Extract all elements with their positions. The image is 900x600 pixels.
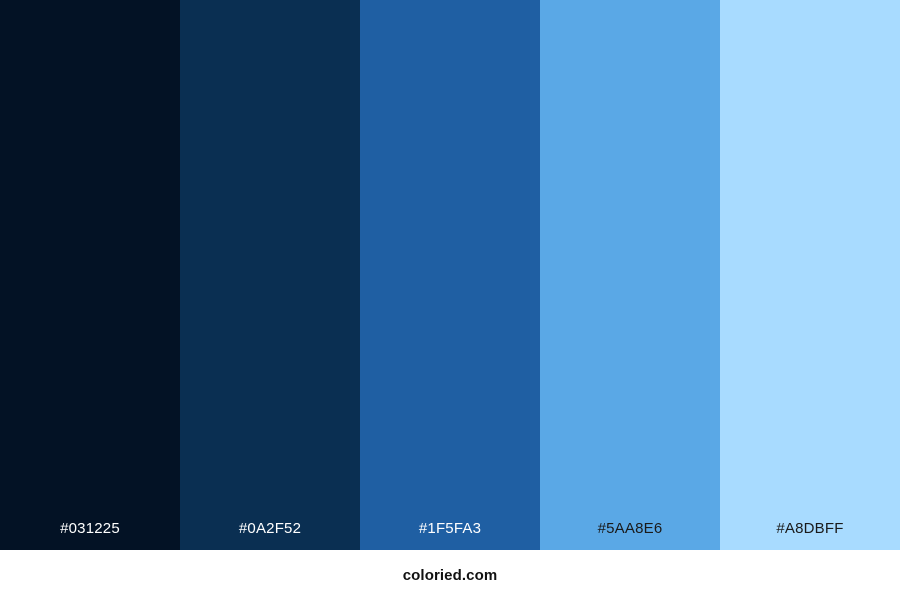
color-swatch-5[interactable]: #A8DBFF [720, 0, 900, 550]
color-swatch-5-hex-label: #A8DBFF [720, 521, 900, 550]
color-swatch-2[interactable]: #0A2F52 [180, 0, 360, 550]
color-swatch-4-hex-label: #5AA8E6 [540, 521, 720, 550]
swatch-strip: #031225 #0A2F52 #1F5FA3 #5AA8E6 #A8DBFF [0, 0, 900, 550]
color-swatch-1[interactable]: #031225 [0, 0, 180, 550]
color-swatch-1-hex-label: #031225 [0, 521, 180, 550]
color-swatch-3-hex-label: #1F5FA3 [360, 521, 540, 550]
color-swatch-3[interactable]: #1F5FA3 [360, 0, 540, 550]
color-palette-page: #031225 #0A2F52 #1F5FA3 #5AA8E6 #A8DBFF … [0, 0, 900, 600]
site-brand-label: coloried.com [403, 568, 498, 583]
color-swatch-2-hex-label: #0A2F52 [180, 521, 360, 550]
color-swatch-4[interactable]: #5AA8E6 [540, 0, 720, 550]
footer-bar: coloried.com [0, 550, 900, 600]
